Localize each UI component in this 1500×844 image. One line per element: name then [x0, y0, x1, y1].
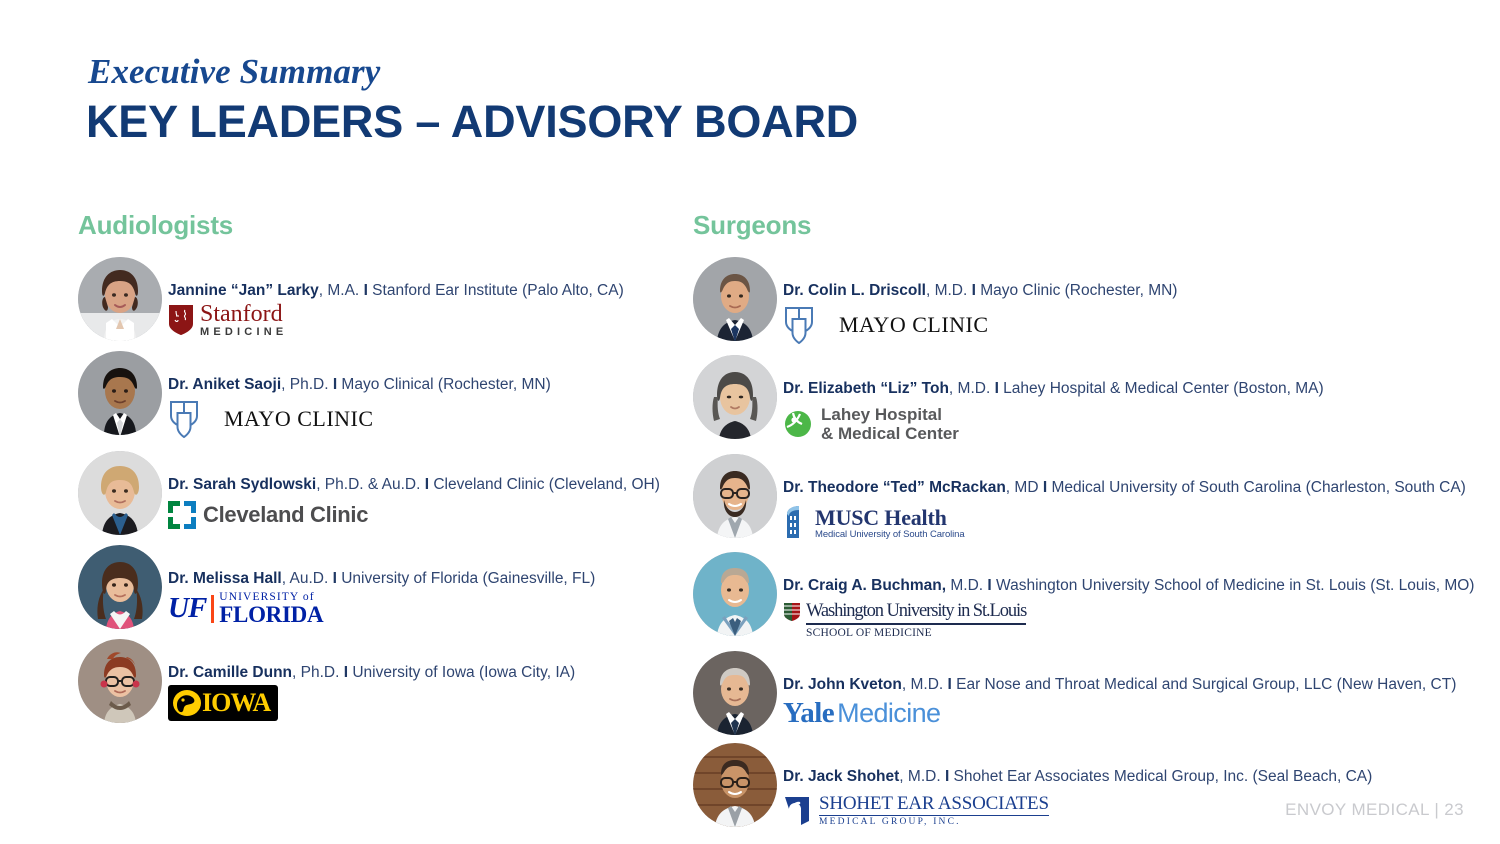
mayo-wordmark: MAYO CLINIC — [839, 312, 989, 338]
lahey-hospital-logo: Lahey Hospital & Medical Center — [783, 402, 1324, 446]
person-body: Jannine “Jan” Larky, M.A. I Stanford Ear… — [162, 257, 624, 337]
washu-wordmark: Washington University in St.Louis — [806, 602, 1026, 621]
avatar — [693, 743, 777, 827]
shohet-wordmark: SHOHET EAR ASSOCIATES — [819, 794, 1049, 816]
list-item: Dr. Craig A. Buchman, M.D. I Washington … — [693, 552, 1498, 642]
person-credentials: , M.D. — [899, 768, 945, 785]
list-item: Dr. Colin L. Driscoll, M.D. I Mayo Clini… — [693, 257, 1498, 347]
avatar — [693, 257, 777, 341]
list-item: Dr. John Kveton, M.D. I Ear Nose and Thr… — [693, 651, 1498, 735]
iowa-hawkeye-icon — [172, 689, 202, 717]
avatar — [78, 351, 162, 435]
person-affiliation: Mayo Clinical (Rochester, MN) — [337, 376, 551, 393]
person-credentials: , Ph.D. — [292, 664, 344, 681]
stanford-sub-wordmark: MEDICINE — [200, 327, 287, 338]
mayo-clinic-logo: MAYO CLINIC — [783, 303, 1177, 347]
person-name-line: Dr. Aniket Saoji, Ph.D. I Mayo Clinical … — [168, 375, 551, 394]
person-affiliation: University of Florida (Gainesville, FL) — [337, 570, 595, 587]
person-body: Dr. Craig A. Buchman, M.D. I Washington … — [777, 552, 1474, 642]
cleveland-clinic-logo: Cleveland Clinic — [168, 498, 660, 532]
person-body: Dr. Melissa Hall, Au.D. I University of … — [162, 545, 595, 625]
list-item: Dr. Camille Dunn, Ph.D. I University of … — [78, 639, 678, 723]
stanford-medicine-logo: Stanford MEDICINE — [168, 303, 624, 337]
yale-medicine-logo: Yale Medicine — [783, 697, 1456, 731]
list-item: Dr. Theodore “Ted” McRackan, MD I Medica… — [693, 454, 1498, 544]
avatar — [693, 651, 777, 735]
university-of-iowa-logo: IOWA — [168, 686, 575, 720]
list-item: Dr. Sarah Sydlowski, Ph.D. & Au.D. I Cle… — [78, 451, 678, 535]
iowa-wordmark: IOWA — [202, 688, 270, 718]
person-credentials: , Ph.D. & Au.D. — [316, 476, 425, 493]
person-affiliation: University of Iowa (Iowa City, IA) — [348, 664, 575, 681]
slide: Executive Summary KEY LEADERS – ADVISORY… — [0, 0, 1500, 844]
shohet-ear-icon — [783, 795, 813, 827]
person-body: Dr. Aniket Saoji, Ph.D. I Mayo Clinical … — [162, 351, 551, 441]
person-credentials: , MD — [1006, 479, 1043, 496]
person-body: Dr. Sarah Sydlowski, Ph.D. & Au.D. I Cle… — [162, 451, 660, 531]
section-heading-surgeons: Surgeons — [693, 210, 1498, 241]
uf-divider — [211, 595, 214, 623]
person-name: Dr. Melissa Hall — [168, 570, 282, 587]
person-body: Dr. Camille Dunn, Ph.D. I University of … — [162, 639, 575, 719]
musc-health-logo: MUSC Health Medical University of South … — [783, 500, 1466, 544]
yale-wordmark: Yale — [783, 697, 834, 730]
person-credentials: M.D. — [946, 577, 987, 594]
person-name-line: Dr. Elizabeth “Liz” Toh, M.D. I Lahey Ho… — [783, 379, 1324, 398]
list-item: Dr. Aniket Saoji, Ph.D. I Mayo Clinical … — [78, 351, 678, 441]
person-name-line: Dr. John Kveton, M.D. I Ear Nose and Thr… — [783, 675, 1456, 694]
audiologists-column: Audiologists — [78, 210, 678, 733]
person-affiliation: Mayo Clinic (Rochester, MN) — [976, 282, 1178, 299]
mayo-clinic-logo: MAYO CLINIC — [168, 397, 551, 441]
person-name: Dr. Theodore “Ted” McRackan — [783, 479, 1006, 496]
musc-wordmark: MUSC Health — [815, 506, 965, 529]
person-body: Dr. Elizabeth “Liz” Toh, M.D. I Lahey Ho… — [777, 355, 1324, 445]
avatar — [693, 454, 777, 538]
person-name-line: Dr. Sarah Sydlowski, Ph.D. & Au.D. I Cle… — [168, 475, 660, 494]
musc-sub-wordmark: Medical University of South Carolina — [815, 530, 965, 540]
lahey-wordmark-line2: & Medical Center — [821, 424, 959, 443]
list-item: Dr. Melissa Hall, Au.D. I University of … — [78, 545, 678, 629]
avatar — [78, 451, 162, 535]
lahey-wordmark-line1: Lahey Hospital — [821, 405, 959, 424]
mayo-shield-icon — [168, 397, 214, 441]
mayo-shield-icon — [783, 303, 829, 347]
avatar — [78, 257, 162, 341]
list-item: Jannine “Jan” Larky, M.A. I Stanford Ear… — [78, 257, 678, 341]
person-credentials: , M.A. — [319, 282, 364, 299]
uf-monogram: UF — [168, 592, 206, 625]
person-name: Dr. Camille Dunn — [168, 664, 292, 681]
university-of-florida-logo: UF UNIVERSITY of FLORIDA — [168, 592, 595, 626]
person-name-line: Dr. Theodore “Ted” McRackan, MD I Medica… — [783, 478, 1466, 497]
person-name: Jannine “Jan” Larky — [168, 282, 319, 299]
slide-eyebrow: Executive Summary — [88, 52, 380, 92]
stanford-wordmark: Stanford — [200, 302, 287, 326]
person-body: Dr. Theodore “Ted” McRackan, MD I Medica… — [777, 454, 1466, 544]
avatar — [693, 552, 777, 636]
washu-divider — [806, 623, 1026, 625]
avatar — [78, 639, 162, 723]
person-name-line: Jannine “Jan” Larky, M.A. I Stanford Ear… — [168, 281, 624, 300]
person-body: Dr. Colin L. Driscoll, M.D. I Mayo Clini… — [777, 257, 1177, 347]
person-credentials: , Au.D. — [282, 570, 333, 587]
person-name: Dr. John Kveton — [783, 676, 902, 693]
shohet-sub-wordmark: MEDICAL GROUP, INC. — [819, 818, 1049, 828]
yale-medicine-wordmark: Medicine — [837, 698, 940, 729]
cleveland-clinic-mark-icon — [168, 501, 196, 529]
page-title: KEY LEADERS – ADVISORY BOARD — [86, 96, 858, 148]
uf-florida-text: FLORIDA — [219, 603, 323, 626]
person-name: Dr. Craig A. Buchman, — [783, 577, 946, 594]
person-body: Dr. Jack Shohet, M.D. I Shohet Ear Assoc… — [777, 743, 1372, 833]
person-name-line: Dr. Colin L. Driscoll, M.D. I Mayo Clini… — [783, 281, 1177, 300]
avatar — [693, 355, 777, 439]
person-name: Dr. Elizabeth “Liz” Toh — [783, 380, 949, 397]
person-affiliation: Shohet Ear Associates Medical Group, Inc… — [949, 768, 1372, 785]
washu-shield-icon — [783, 602, 801, 622]
stanford-shield-icon — [168, 304, 194, 336]
list-item: Dr. Elizabeth “Liz” Toh, M.D. I Lahey Ho… — [693, 355, 1498, 445]
washu-sub-wordmark: SCHOOL OF MEDICINE — [806, 627, 1026, 639]
person-name-line: Dr. Jack Shohet, M.D. I Shohet Ear Assoc… — [783, 767, 1372, 786]
person-credentials: , M.D. — [926, 282, 972, 299]
person-name: Dr. Colin L. Driscoll — [783, 282, 926, 299]
slide-footer: ENVOY MEDICAL | 23 — [1285, 800, 1464, 820]
person-name-line: Dr. Melissa Hall, Au.D. I University of … — [168, 569, 595, 588]
avatar — [78, 545, 162, 629]
surgeons-column: Surgeons Dr. C — [693, 210, 1498, 841]
person-affiliation: Medical University of South Carolina (Ch… — [1047, 479, 1466, 496]
person-name: Dr. Sarah Sydlowski — [168, 476, 316, 493]
person-name: Dr. Jack Shohet — [783, 768, 899, 785]
person-affiliation: Cleveland Clinic (Cleveland, OH) — [429, 476, 660, 493]
shohet-ear-associates-logo: SHOHET EAR ASSOCIATES MEDICAL GROUP, INC… — [783, 789, 1372, 833]
musc-building-icon — [783, 504, 809, 540]
person-credentials: , M.D. — [902, 676, 948, 693]
person-affiliation: Washington University School of Medicine… — [992, 577, 1475, 594]
cleveland-clinic-wordmark: Cleveland Clinic — [203, 502, 368, 528]
person-affiliation: Stanford Ear Institute (Palo Alto, CA) — [368, 282, 624, 299]
person-name-line: Dr. Camille Dunn, Ph.D. I University of … — [168, 663, 575, 682]
person-affiliation: Ear Nose and Throat Medical and Surgical… — [952, 676, 1457, 693]
mayo-wordmark: MAYO CLINIC — [224, 406, 374, 432]
person-credentials: , M.D. — [949, 380, 995, 397]
person-name: Dr. Aniket Saoji — [168, 376, 281, 393]
person-body: Dr. John Kveton, M.D. I Ear Nose and Thr… — [777, 651, 1456, 731]
person-credentials: , Ph.D. — [281, 376, 333, 393]
person-name-line: Dr. Craig A. Buchman, M.D. I Washington … — [783, 576, 1474, 595]
section-heading-audiologists: Audiologists — [78, 210, 678, 241]
lahey-leaf-icon — [783, 409, 813, 439]
person-affiliation: Lahey Hospital & Medical Center (Boston,… — [999, 380, 1324, 397]
washington-university-logo: Washington University in St.Louis SCHOOL… — [783, 599, 1474, 643]
